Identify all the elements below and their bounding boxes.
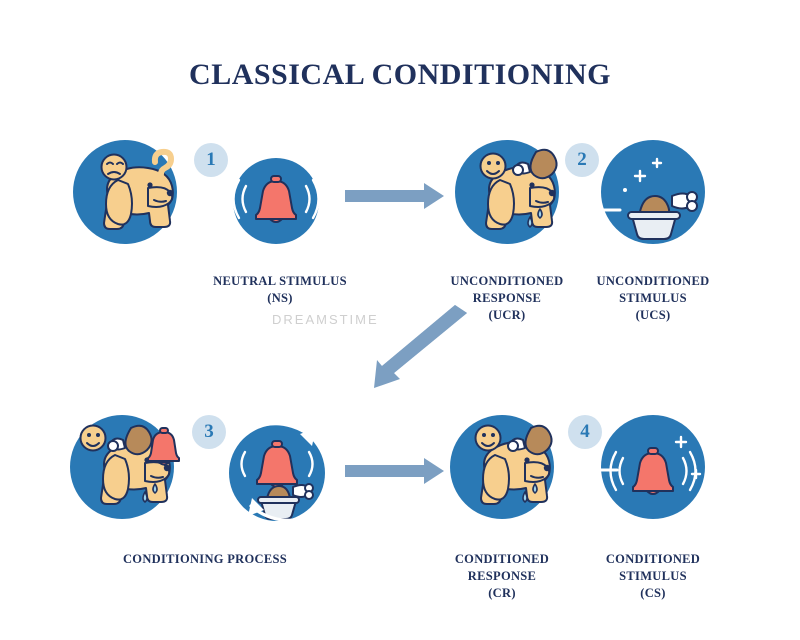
circle-step1-dog [73,140,177,244]
caption-step2-response-line1: UNCONDITIONED [437,273,577,290]
circle-step3-process [229,425,325,521]
badge-step-1-label: 1 [206,149,216,171]
caption-step1: NEUTRAL STIMULUS (NS) [160,273,400,307]
caption-step3-line1: CONDITIONING PROCESS [80,551,330,568]
caption-step4-response-line3: (CR) [432,585,572,602]
badge-step-1: 1 [194,143,228,177]
caption-step1-line2: (NS) [160,290,400,307]
page-title: CLASSICAL CONDITIONING [0,58,800,92]
caption-step2-response: UNCONDITIONED RESPONSE (UCR) [437,273,577,324]
caption-step4-stimulus-line1: CONDITIONED [583,551,723,568]
badge-step-4: 4 [568,415,602,449]
caption-step4-stimulus-line3: (CS) [583,585,723,602]
badge-step-2: 2 [565,143,599,177]
arrow-step3-to-step4 [345,458,444,484]
caption-step2-response-line2: RESPONSE [437,290,577,307]
caption-step3: CONDITIONING PROCESS [80,551,330,568]
caption-step4-response: CONDITIONED RESPONSE (CR) [432,551,572,602]
diagram-canvas: CLASSICAL CONDITIONING DREAMSTIME DREAMS… [0,0,800,640]
caption-step2-stimulus-line3: (UCS) [583,307,723,324]
watermark-top: DREAMSTIME [272,312,379,327]
caption-step4-response-line1: CONDITIONED [432,551,572,568]
caption-step2-stimulus: UNCONDITIONED STIMULUS (UCS) [583,273,723,324]
caption-step2-response-line3: (UCR) [437,307,577,324]
caption-step1-line1: NEUTRAL STIMULUS [160,273,400,290]
caption-step4-stimulus-line2: STIMULUS [583,568,723,585]
arrow-white-step3 [177,466,222,478]
arrow-white-step1 [180,191,232,203]
badge-step-3-label: 3 [204,421,214,443]
circle-step1-bell [233,158,319,244]
badge-step-2-label: 2 [577,149,587,171]
arrow-step1-to-step2 [345,183,444,209]
circle-step2-dog [455,140,559,244]
caption-step4-stimulus: CONDITIONED STIMULUS (CS) [583,551,723,602]
circle-step4-bell [601,415,705,519]
circle-step4-dog [450,415,554,519]
badge-step-4-label: 4 [580,421,590,443]
caption-step2-stimulus-line1: UNCONDITIONED [583,273,723,290]
badge-step-3: 3 [192,415,226,449]
caption-step2-stimulus-line2: STIMULUS [583,290,723,307]
circle-step3-dog [70,415,174,519]
caption-step4-response-line2: RESPONSE [432,568,572,585]
circle-step2-bowl [601,140,705,244]
